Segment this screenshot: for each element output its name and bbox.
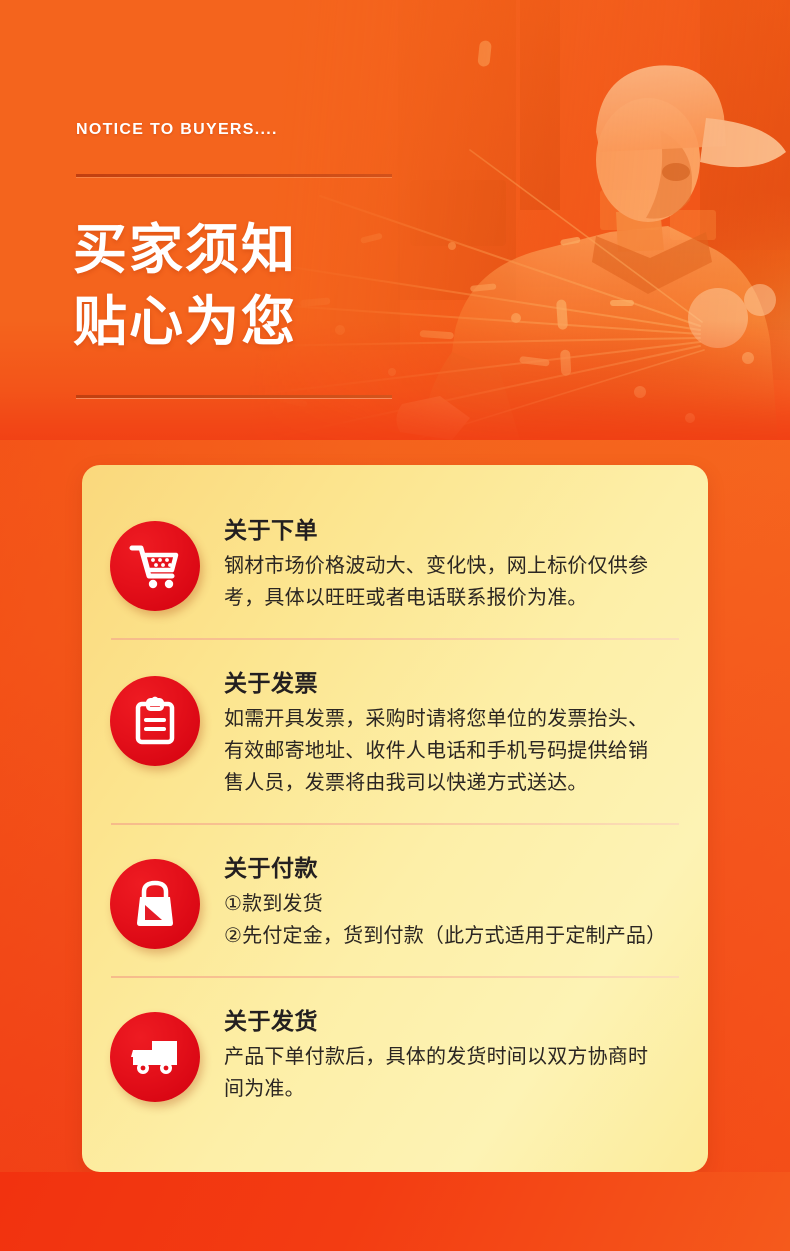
delivery-text: 关于发货 产品下单付款后，具体的发货时间以双方协商时 间为准。 [206,1004,680,1105]
payment-title: 关于付款 [224,853,680,883]
notice-section-payment: 关于付款 ①款到发货 ②先付定金，货到付款（此方式适用于定制产品） [110,825,680,976]
invoice-text: 关于发票 如需开具发票，采购时请将您单位的发票抬头、 有效邮寄地址、收件人电话和… [206,666,680,799]
shopping-bag-icon [110,859,200,949]
bottom-orange-fill [0,1172,790,1251]
payment-body: ①款到发货 ②先付定金，货到付款（此方式适用于定制产品） [224,888,680,952]
buyer-notice-page: NOTICE TO BUYERS.... 买家须知 贴心为您 [0,0,790,1251]
notice-section-delivery: 关于发货 产品下单付款后，具体的发货时间以双方协商时 间为准。 [110,978,680,1129]
shopping-cart-icon [110,521,200,611]
payment-body-line-1: ①款到发货 [224,888,680,920]
invoice-body: 如需开具发票，采购时请将您单位的发票抬头、 有效邮寄地址、收件人电话和手机号码提… [224,703,680,799]
clipboard-icon [110,676,200,766]
invoice-body-line-1: 如需开具发票，采购时请将您单位的发票抬头、 [224,703,680,735]
order-body-line-1: 钢材市场价格波动大、变化快，网上标价仅供参 [224,550,680,582]
delivery-truck-icon [110,1012,200,1102]
header-rule-bottom [76,395,392,398]
order-icon-wrap [110,513,206,611]
invoice-body-line-3: 售人员，发票将由我司以快递方式送达。 [224,767,680,799]
delivery-body: 产品下单付款后，具体的发货时间以双方协商时 间为准。 [224,1041,680,1105]
notice-card: 关于下单 钢材市场价格波动大、变化快，网上标价仅供参 考，具体以旺旺或者电话联系… [82,465,708,1172]
header-rule-top [76,174,392,177]
payment-icon-wrap [110,851,206,949]
notice-section-invoice: 关于发票 如需开具发票，采购时请将您单位的发票抬头、 有效邮寄地址、收件人电话和… [110,640,680,823]
page-title: 买家须知 贴心为您 [73,214,503,358]
delivery-body-line-1: 产品下单付款后，具体的发货时间以双方协商时 [224,1041,680,1073]
order-text: 关于下单 钢材市场价格波动大、变化快，网上标价仅供参 考，具体以旺旺或者电话联系… [206,513,680,614]
payment-body-line-2: ②先付定金，货到付款（此方式适用于定制产品） [224,920,680,952]
page-title-line-2: 贴心为您 [73,286,503,358]
page-title-line-1: 买家须知 [73,214,503,286]
order-title: 关于下单 [224,515,680,545]
invoice-title: 关于发票 [224,668,680,698]
order-body: 钢材市场价格波动大、变化快，网上标价仅供参 考，具体以旺旺或者电话联系报价为准。 [224,550,680,614]
delivery-icon-wrap [110,1004,206,1102]
invoice-icon-wrap [110,666,206,766]
invoice-body-line-2: 有效邮寄地址、收件人电话和手机号码提供给销 [224,735,680,767]
delivery-body-line-2: 间为准。 [224,1073,680,1105]
eyebrow-text: NOTICE TO BUYERS.... [76,121,278,139]
payment-text: 关于付款 ①款到发货 ②先付定金，货到付款（此方式适用于定制产品） [206,851,680,952]
notice-section-order: 关于下单 钢材市场价格波动大、变化快，网上标价仅供参 考，具体以旺旺或者电话联系… [110,465,680,638]
order-body-line-2: 考，具体以旺旺或者电话联系报价为准。 [224,582,680,614]
delivery-title: 关于发货 [224,1006,680,1036]
